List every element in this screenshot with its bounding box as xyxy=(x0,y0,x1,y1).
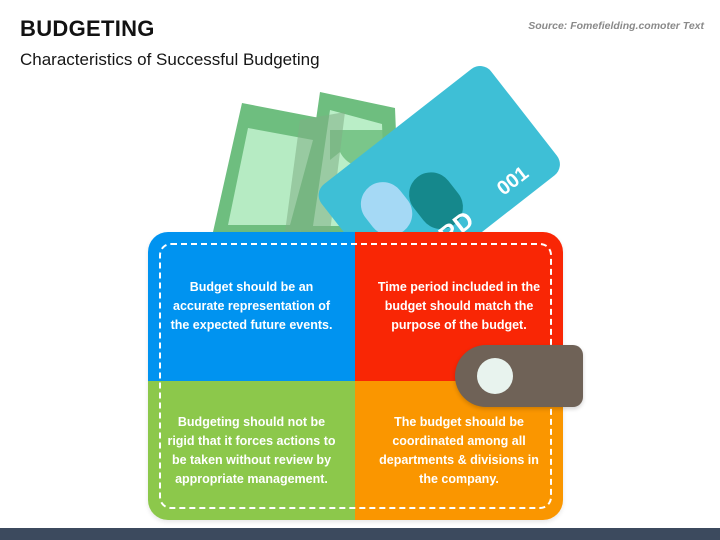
quadrant-top-left-text: Budget should be an accurate representat… xyxy=(166,278,337,335)
banknote-overlap-shade xyxy=(285,112,345,232)
wallet-clasp-icon xyxy=(455,345,583,407)
footer-bar xyxy=(0,528,720,540)
quadrant-top-right-text: Time period included in the budget shoul… xyxy=(373,278,545,335)
quadrant-top-left[interactable]: Budget should be an accurate representat… xyxy=(148,232,355,381)
banknote-right-icon xyxy=(300,92,400,232)
banknote-left-icon xyxy=(213,103,330,232)
page-title: BUDGETING xyxy=(20,16,155,42)
slide: BUDGETING Characteristics of Successful … xyxy=(0,0,720,540)
wallet-clasp-dot-icon xyxy=(477,358,513,394)
source-label: Source: Fomefielding.comoter Text xyxy=(528,20,704,32)
page-subtitle: Characteristics of Successful Budgeting xyxy=(20,50,320,70)
quadrant-bottom-right-text: The budget should be coordinated among a… xyxy=(373,413,545,489)
quadrant-bottom-left-text: Budgeting should not be rigid that it fo… xyxy=(166,413,337,489)
quadrant-bottom-left[interactable]: Budgeting should not be rigid that it fo… xyxy=(148,381,355,520)
credit-card-number-text: 001 xyxy=(493,162,533,200)
